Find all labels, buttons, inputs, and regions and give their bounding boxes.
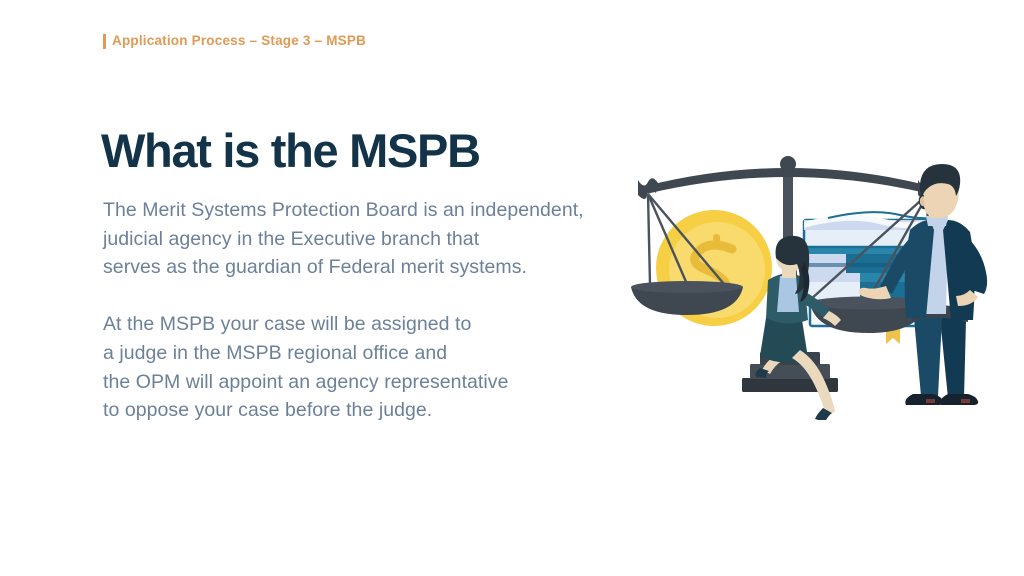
body-line: The Merit Systems Protection Board is an… bbox=[103, 196, 683, 225]
body-line: a judge in the MSPB regional office and bbox=[103, 339, 683, 368]
body-line: serves as the guardian of Federal merit … bbox=[103, 253, 683, 282]
kicker-label: Application Process – Stage 3 – MSPB bbox=[112, 34, 366, 48]
breadcrumb-kicker: Application Process – Stage 3 – MSPB bbox=[103, 30, 366, 52]
slide-root: Application Process – Stage 3 – MSPB Wha… bbox=[0, 0, 1024, 576]
paragraph-process: At the MSPB your case will be assigned t… bbox=[103, 310, 683, 424]
body-line: At the MSPB your case will be assigned t… bbox=[103, 310, 683, 339]
paragraph-definition: The Merit Systems Protection Board is an… bbox=[103, 196, 683, 282]
body-line: the OPM will appoint an agency represent… bbox=[103, 368, 683, 397]
body-line: judicial agency in the Executive branch … bbox=[103, 225, 683, 254]
page-title: What is the MSPB bbox=[101, 126, 480, 177]
vertical-bar-accent-icon bbox=[103, 34, 106, 49]
justice-scales-illustration bbox=[614, 150, 1024, 420]
body-line: to oppose your case before the judge. bbox=[103, 396, 683, 425]
body-copy: The Merit Systems Protection Board is an… bbox=[103, 196, 683, 425]
